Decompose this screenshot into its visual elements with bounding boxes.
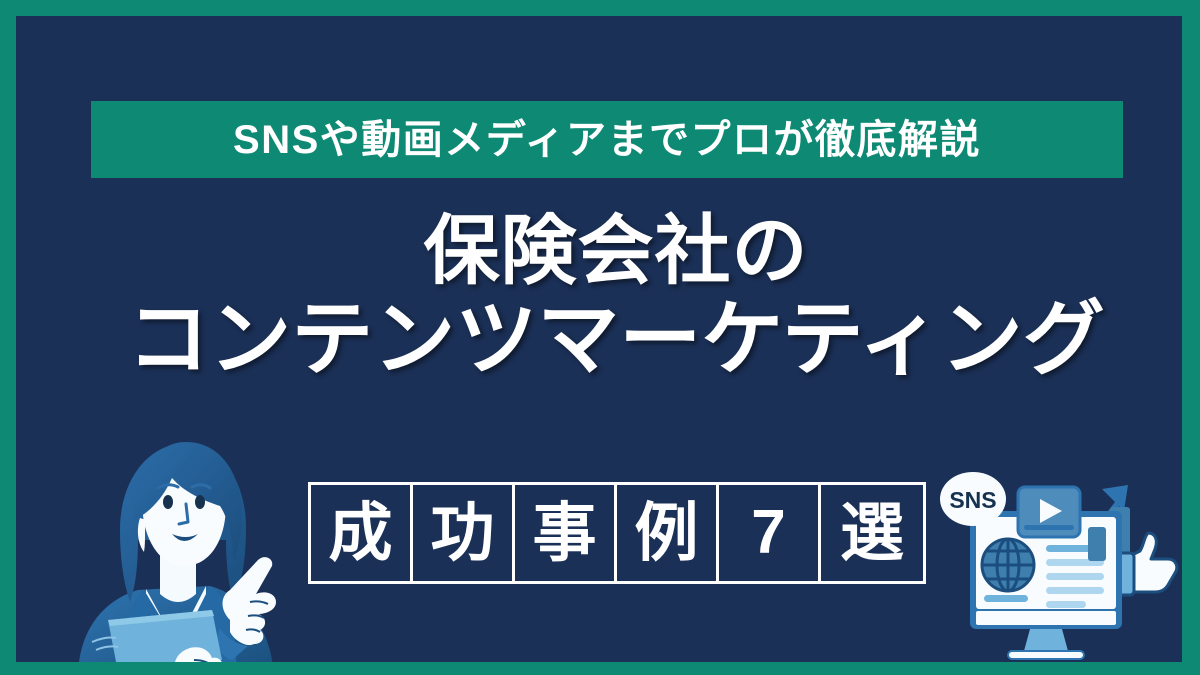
subtitle-text: SNSや動画メディアまでプロが徹底解説 xyxy=(233,120,981,160)
kanji-cell: 選 xyxy=(821,485,923,581)
sns-bubble-label: SNS xyxy=(949,487,996,513)
headline-line-1: 保険会社の xyxy=(16,212,1182,293)
subtitle-ribbon: SNSや動画メディアまでプロが徹底解説 xyxy=(91,101,1123,178)
navy-panel: SNSや動画メディアまでプロが徹底解説 保険会社の コンテンツマーケティング 成… xyxy=(16,16,1182,662)
content-media-illustration: SNS xyxy=(936,461,1182,662)
woman-eye-left xyxy=(163,495,173,509)
globe-icon xyxy=(982,539,1034,591)
kanji-cell: 事 xyxy=(515,485,617,581)
eyecatch-banner: SNSや動画メディアまでプロが徹底解説 保険会社の コンテンツマーケティング 成… xyxy=(0,0,1200,675)
headline-line-2: コンテンツマーケティング xyxy=(16,297,1182,384)
video-play-card xyxy=(1018,487,1080,537)
kanji-cell: 成 xyxy=(311,485,413,581)
woman-eye-right xyxy=(195,495,205,509)
kanji-cell: 例 xyxy=(617,485,719,581)
businesswoman-illustration xyxy=(60,434,310,662)
kanji-cell-number: 7 xyxy=(719,485,821,581)
screen-chart-block xyxy=(1088,527,1106,561)
main-headline: 保険会社の コンテンツマーケティング xyxy=(16,212,1182,383)
kanji-box-strip: 成 功 事 例 7 選 xyxy=(308,482,926,584)
kanji-cell: 功 xyxy=(413,485,515,581)
